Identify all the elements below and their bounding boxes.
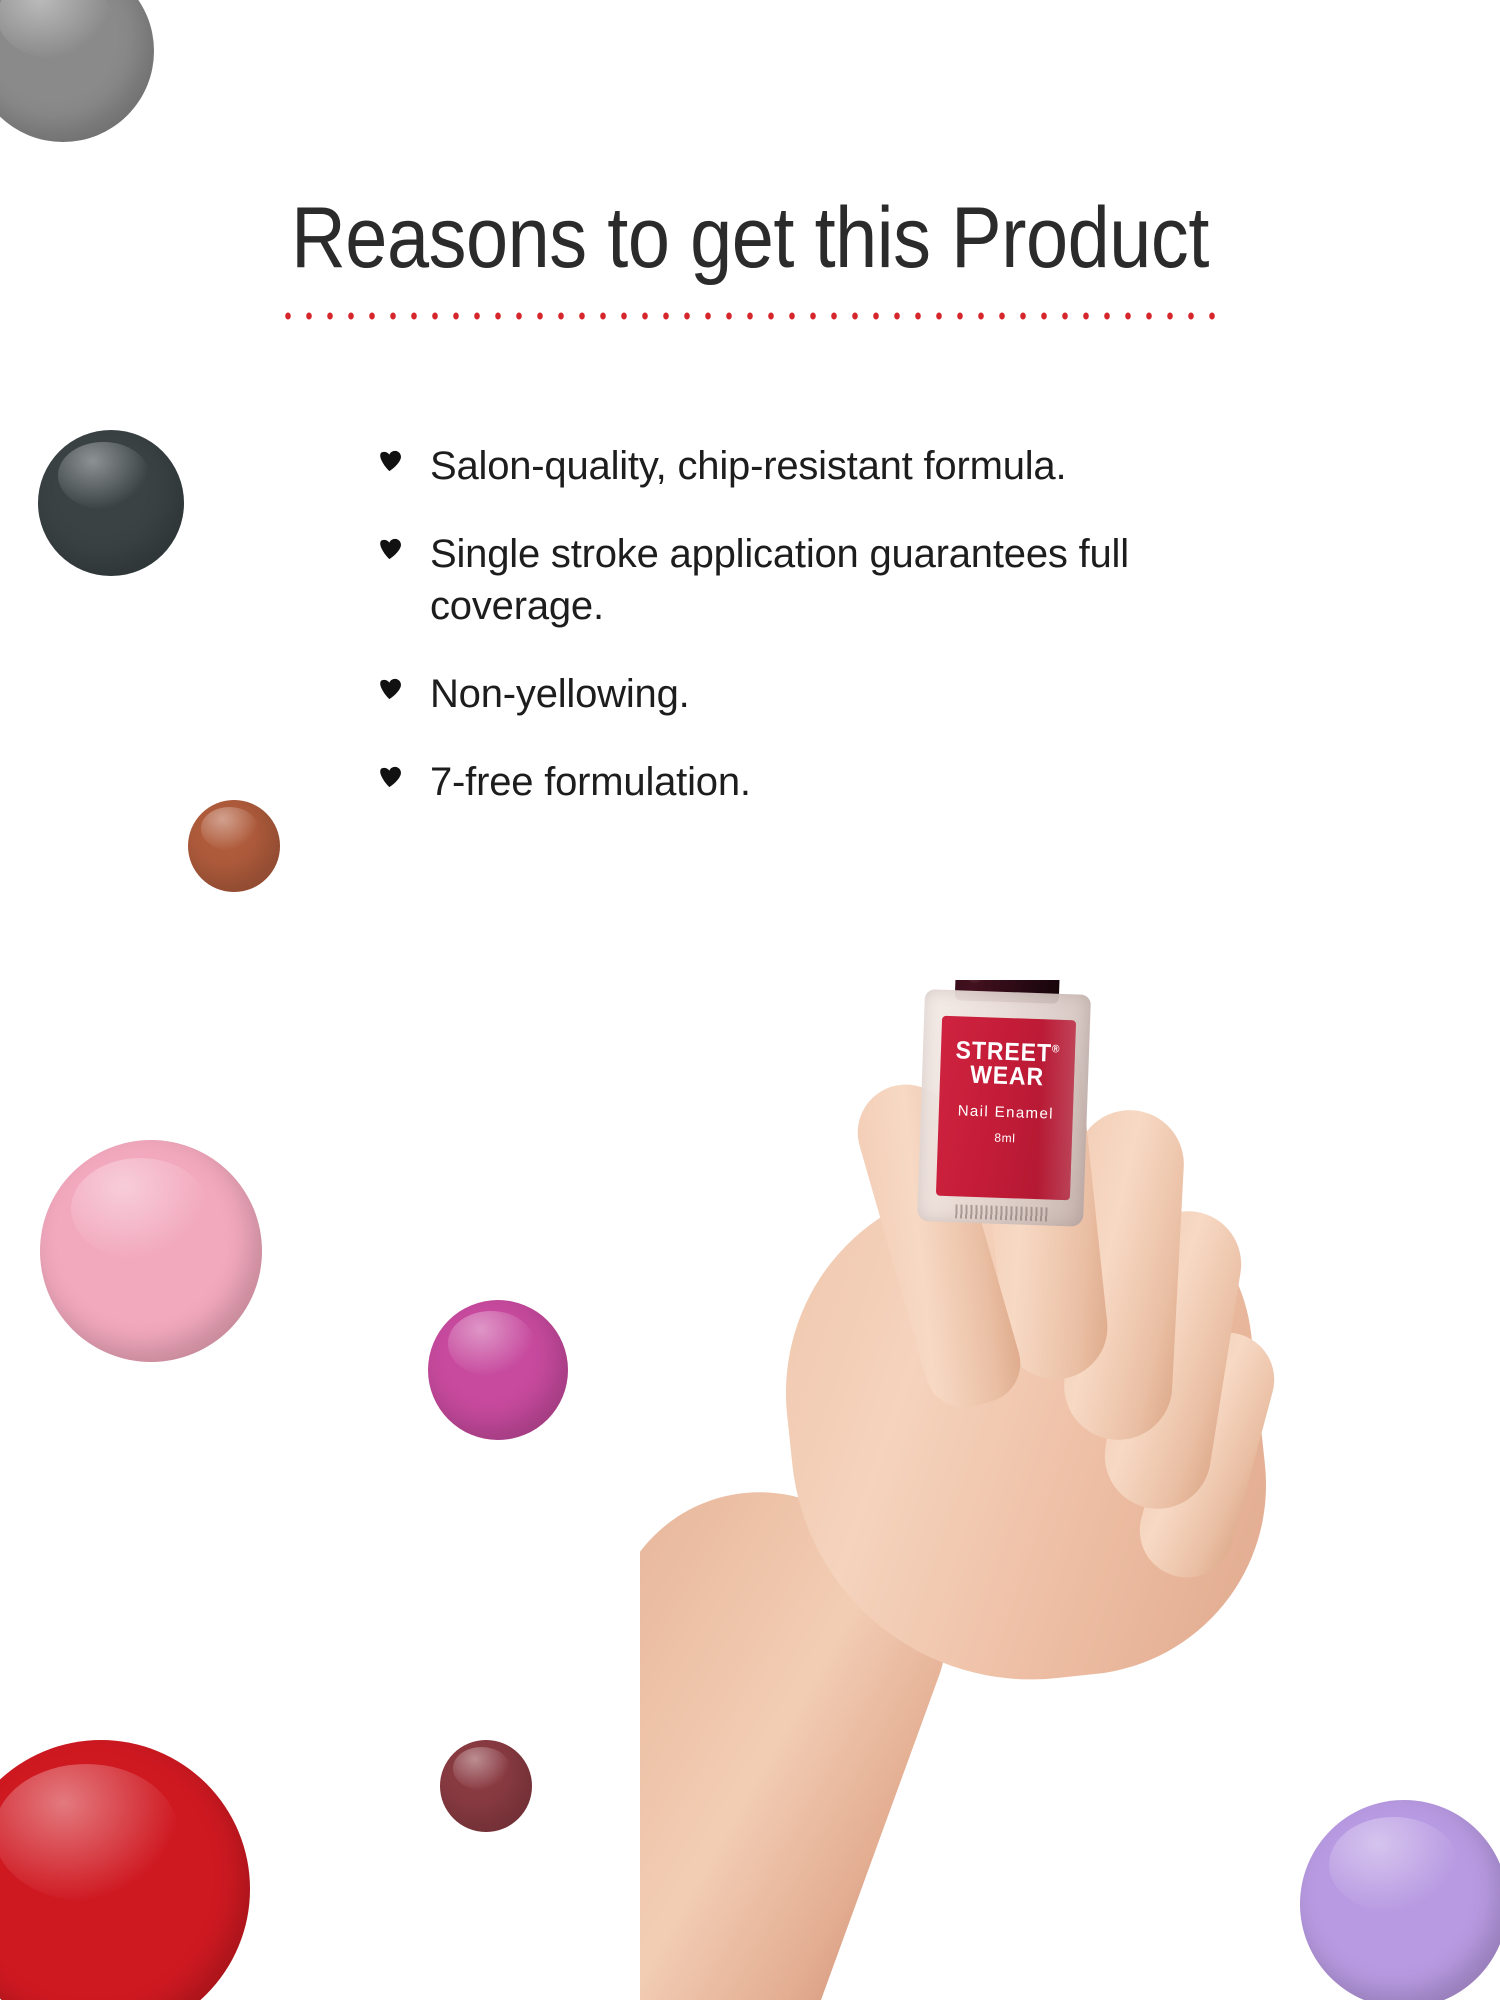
divider-dot: [411, 313, 417, 320]
divider-dot: [558, 313, 564, 320]
swatch-magenta: [428, 1300, 568, 1440]
swatch-pink: [40, 1140, 262, 1362]
swatch-pink-gloss: [71, 1158, 209, 1260]
divider-dot: [369, 313, 375, 320]
divider-dot: [1125, 313, 1131, 320]
label-highlight: [1036, 1019, 1076, 1200]
divider-dot: [663, 313, 669, 320]
divider-dot: [684, 313, 690, 320]
swatch-maroon-shading: [440, 1740, 532, 1832]
benefit-text: Non-yellowing.: [430, 672, 690, 716]
divider-dot: [915, 313, 921, 320]
divider-dot: [894, 313, 900, 320]
divider-dot: [1062, 313, 1068, 320]
divider-dot: [1146, 313, 1152, 320]
benefits-list: Salon-quality, chip-resistant formula. S…: [378, 440, 1148, 808]
divider-dot: [1209, 313, 1215, 320]
swatch-magenta-shading: [428, 1300, 568, 1440]
swatch-red-gloss: [0, 1764, 178, 1901]
divider-dot: [306, 313, 312, 320]
divider-dot: [495, 313, 501, 320]
divider-dot: [789, 313, 795, 320]
swatch-maroon: [440, 1740, 532, 1832]
benefit-text: 7-free formulation.: [430, 760, 751, 804]
heart-bullet-icon: [378, 765, 404, 791]
divider-dot: [831, 313, 837, 320]
divider-dot: [705, 313, 711, 320]
swatch-terracotta: [188, 800, 280, 892]
swatch-charcoal-shading: [38, 430, 184, 576]
divider-dot: [936, 313, 942, 320]
swatch-charcoal: [38, 430, 184, 576]
divider-dot: [474, 313, 480, 320]
divider-dot: [1104, 313, 1110, 320]
benefit-item: 7-free formulation.: [378, 756, 1148, 808]
swatch-gray: [0, 0, 154, 142]
divider-dot: [978, 313, 984, 320]
divider-dot: [852, 313, 858, 320]
benefit-item: Salon-quality, chip-resistant formula.: [378, 440, 1148, 492]
divider-dot: [1083, 313, 1089, 320]
page-title: Reasons to get this Product: [90, 195, 1410, 281]
swatch-magenta-gloss: [448, 1311, 535, 1375]
divider-dot: [600, 313, 606, 320]
header: Reasons to get this Product: [0, 195, 1500, 321]
divider-dot: [285, 313, 291, 320]
divider-dot: [579, 313, 585, 320]
divider-dot: [999, 313, 1005, 320]
divider-dot: [327, 313, 333, 320]
divider-dot: [768, 313, 774, 320]
swatch-red-shading: [0, 1740, 250, 2000]
benefit-text: Salon-quality, chip-resistant formula.: [430, 444, 1066, 488]
swatch-red: [0, 1740, 250, 2000]
divider-dot: [390, 313, 396, 320]
swatch-gray-gloss: [0, 0, 110, 58]
divider-dot: [621, 313, 627, 320]
swatch-terracotta-gloss: [201, 807, 258, 849]
divider-dot: [642, 313, 648, 320]
divider-dot: [537, 313, 543, 320]
dotted-divider: [285, 311, 1215, 321]
heart-bullet-icon: [378, 537, 404, 563]
divider-dot: [1188, 313, 1194, 320]
divider-dot: [810, 313, 816, 320]
swatch-gray-shading: [0, 0, 154, 142]
swatch-maroon-gloss: [453, 1747, 510, 1789]
divider-dot: [1167, 313, 1173, 320]
brand-line-2: WEAR: [970, 1061, 1045, 1092]
divider-dot: [1041, 313, 1047, 320]
divider-dot: [873, 313, 879, 320]
divider-dot: [1020, 313, 1026, 320]
divider-dot: [453, 313, 459, 320]
divider-dot: [726, 313, 732, 320]
divider-dot: [432, 313, 438, 320]
heart-bullet-icon: [378, 677, 404, 703]
divider-dot: [747, 313, 753, 320]
benefit-text: Single stroke application guarantees ful…: [430, 532, 1129, 628]
benefit-item: Non-yellowing.: [378, 668, 1148, 720]
bottle-label: STREET® WEAR Nail Enamel 8ml: [936, 1016, 1076, 1201]
divider-dot: [957, 313, 963, 320]
product-benefits-page: Reasons to get this Product Salon-qualit…: [0, 0, 1500, 2000]
divider-dot: [348, 313, 354, 320]
swatch-charcoal-gloss: [58, 442, 149, 509]
divider-dot: [516, 313, 522, 320]
heart-bullet-icon: [378, 449, 404, 475]
swatch-terracotta-shading: [188, 800, 280, 892]
nail-enamel-bottle: STREET® WEAR Nail Enamel 8ml: [911, 980, 1104, 1235]
benefit-item: Single stroke application guarantees ful…: [378, 528, 1148, 632]
swatch-pink-shading: [40, 1140, 262, 1362]
product-photo: STREET® WEAR Nail Enamel 8ml: [640, 980, 1500, 2000]
